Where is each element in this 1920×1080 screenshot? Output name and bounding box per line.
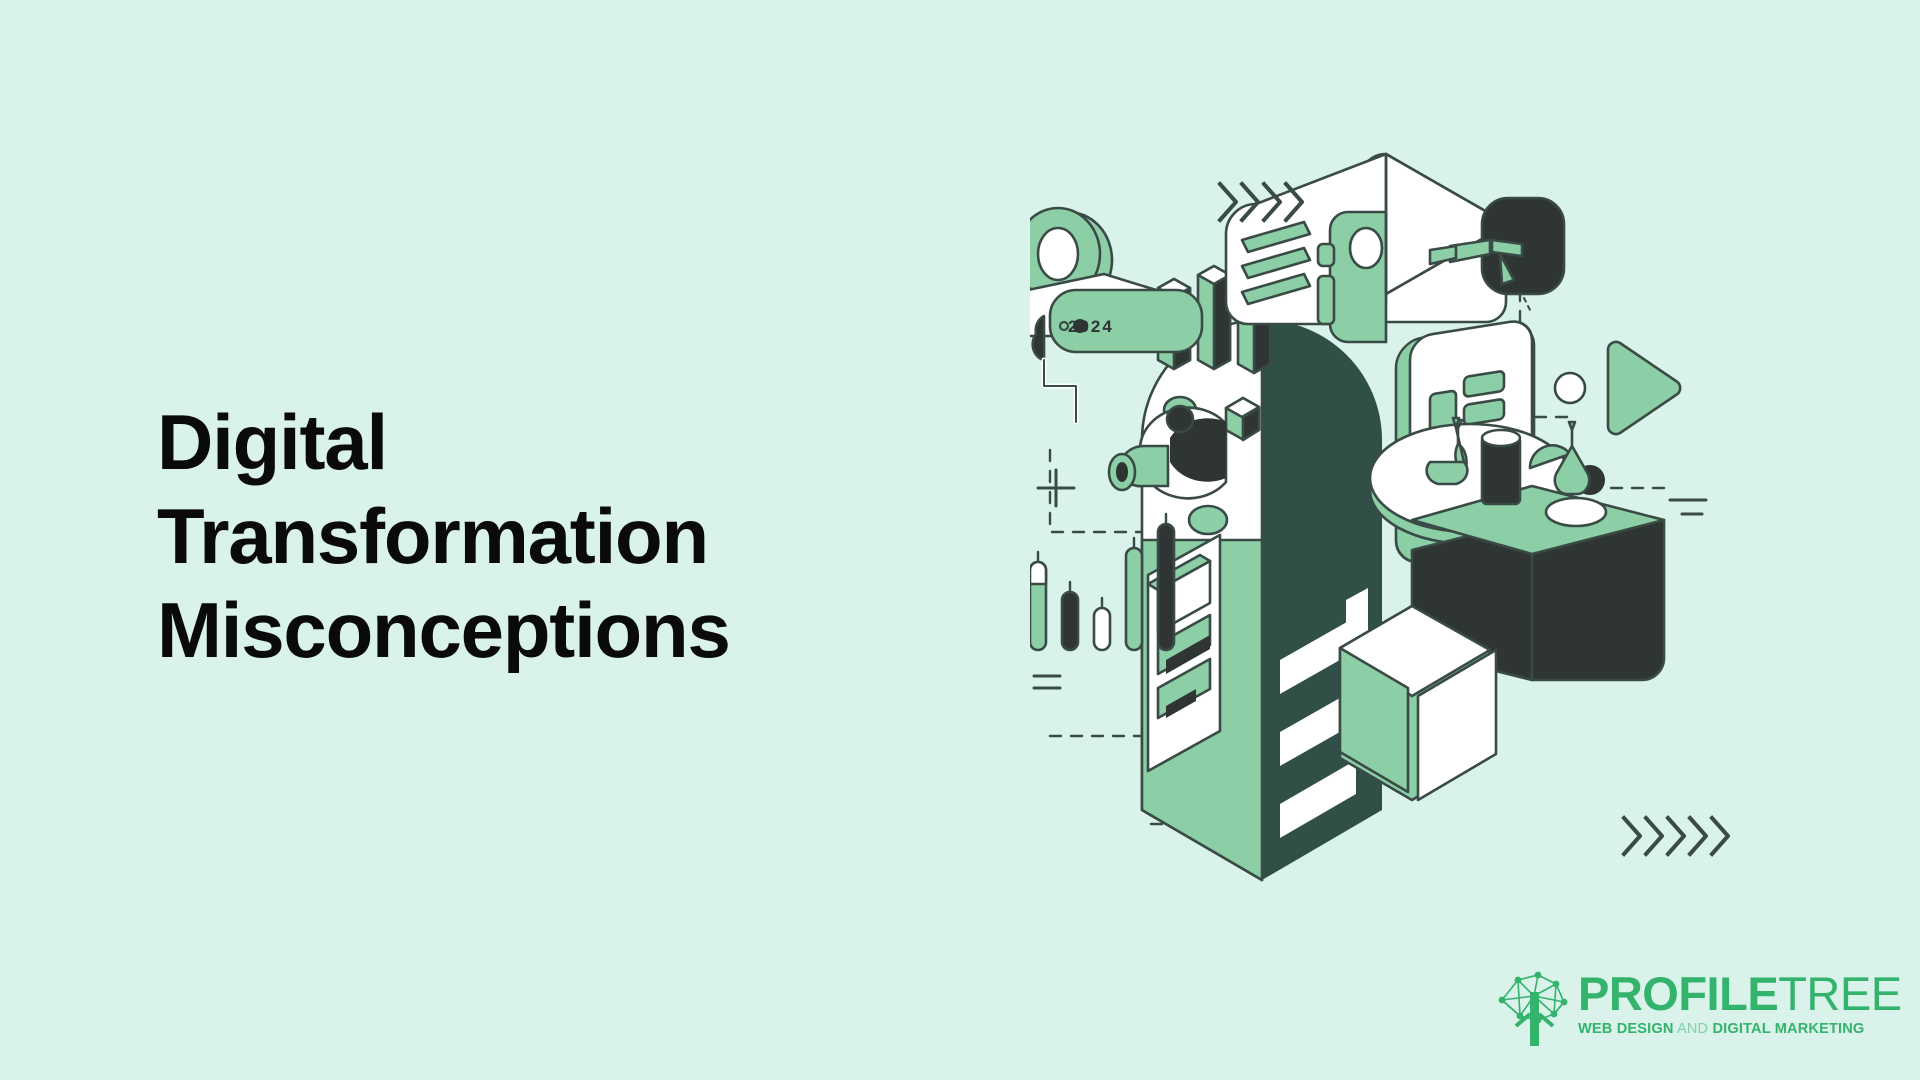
node-dot-white xyxy=(1555,373,1585,403)
play-button-triangle xyxy=(1608,342,1680,434)
logo-tagline-and: AND xyxy=(1674,1021,1713,1037)
plus-marker xyxy=(1038,470,1074,506)
logo-brand-bold: PROFILE xyxy=(1578,967,1778,1020)
lab-cylinder xyxy=(1482,430,1520,504)
profiletree-network-tree-icon xyxy=(1494,970,1572,1050)
headline-line-2: Transformation xyxy=(157,489,877,583)
equals-marker-right xyxy=(1670,500,1706,514)
headline-line-1: Digital xyxy=(157,395,877,489)
logo-brand-light: TREE xyxy=(1778,967,1901,1020)
logo-tagline: WEB DESIGN AND DIGITAL MARKETING xyxy=(1578,1020,1902,1038)
logo-tagline-part2: DIGITAL MARKETING xyxy=(1712,1021,1864,1037)
lab-dish xyxy=(1546,498,1606,526)
page-title: Digital Transformation Misconceptions xyxy=(157,395,877,677)
equals-marker-left xyxy=(1034,676,1060,688)
hero-illustration: 2024 xyxy=(1030,120,1790,930)
slide-canvas: Digital Transformation Misconceptions xyxy=(0,0,1920,1080)
chevron-group-bottom xyxy=(1624,818,1728,854)
headline-line-3: Misconceptions xyxy=(157,583,877,677)
profiletree-logo[interactable]: PROFILETREE WEB DESIGN AND DIGITAL MARKE… xyxy=(1494,968,1834,1056)
logo-wordmark: PROFILETREE xyxy=(1578,970,1902,1017)
robot-arm xyxy=(1226,154,1564,342)
logo-tagline-part1: WEB DESIGN xyxy=(1578,1021,1674,1037)
